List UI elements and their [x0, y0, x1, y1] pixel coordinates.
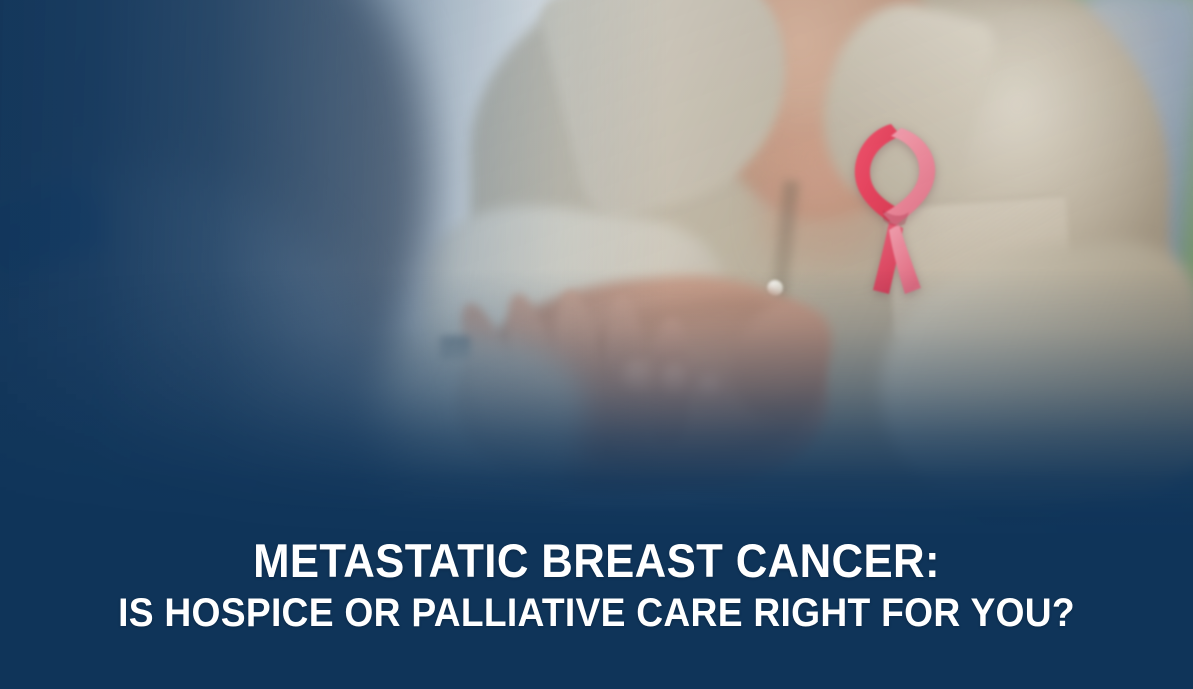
knuckle	[620, 358, 660, 392]
pink-awareness-ribbon-icon	[845, 118, 955, 298]
knuckle	[694, 372, 730, 402]
background-photo	[0, 0, 1193, 689]
awareness-banner: METASTATIC BREAST CANCER: IS HOSPICE OR …	[0, 0, 1193, 689]
knuckle	[658, 362, 696, 394]
